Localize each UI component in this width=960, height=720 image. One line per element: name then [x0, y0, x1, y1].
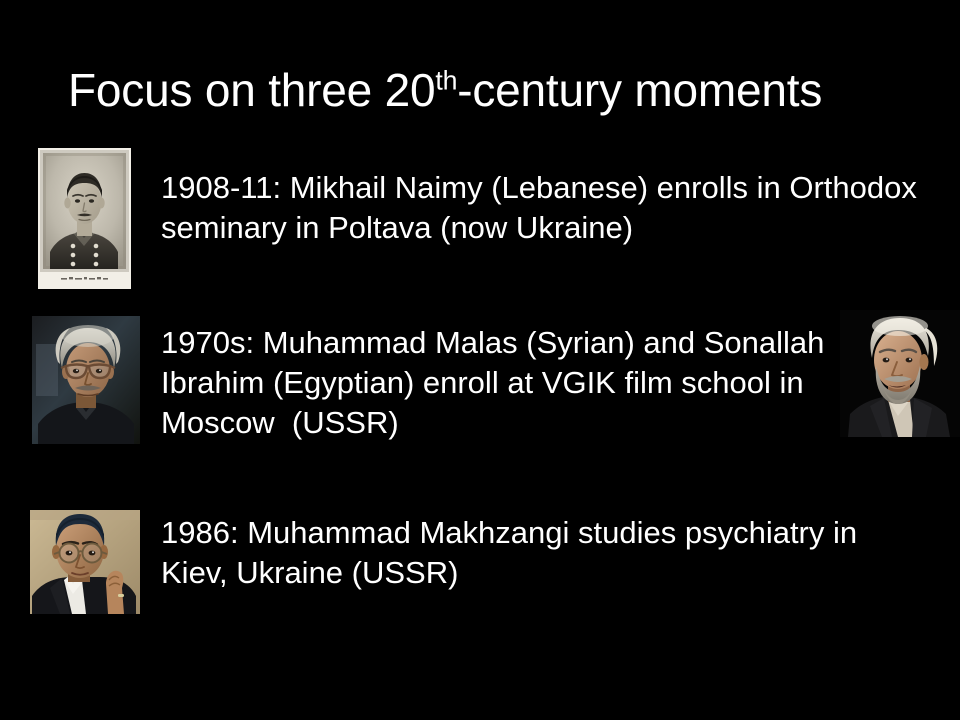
bullet-text-1970s: 1970s: Muhammad Malas (Syrian) and Sonal… — [161, 323, 861, 443]
photo-muhammad-malas — [32, 316, 140, 444]
slide-title: Focus on three 20th-century moments — [68, 62, 928, 118]
slide-title-suffix: -century moments — [457, 64, 822, 116]
photo-muhammad-makhzangi — [30, 510, 140, 614]
bullet-text-1986: 1986: Muhammad Makhzangi studies psychia… — [161, 513, 881, 593]
presentation-slide: Focus on three 20th-century moments 1908… — [0, 0, 960, 720]
slide-title-prefix: Focus on three 20 — [68, 64, 435, 116]
photo-sonallah-ibrahim — [840, 310, 960, 437]
bullet-text-1908: 1908-11: Mikhail Naimy (Lebanese) enroll… — [161, 168, 921, 248]
photo-mikhail-naimy — [38, 148, 131, 289]
slide-title-superscript: th — [435, 66, 457, 96]
